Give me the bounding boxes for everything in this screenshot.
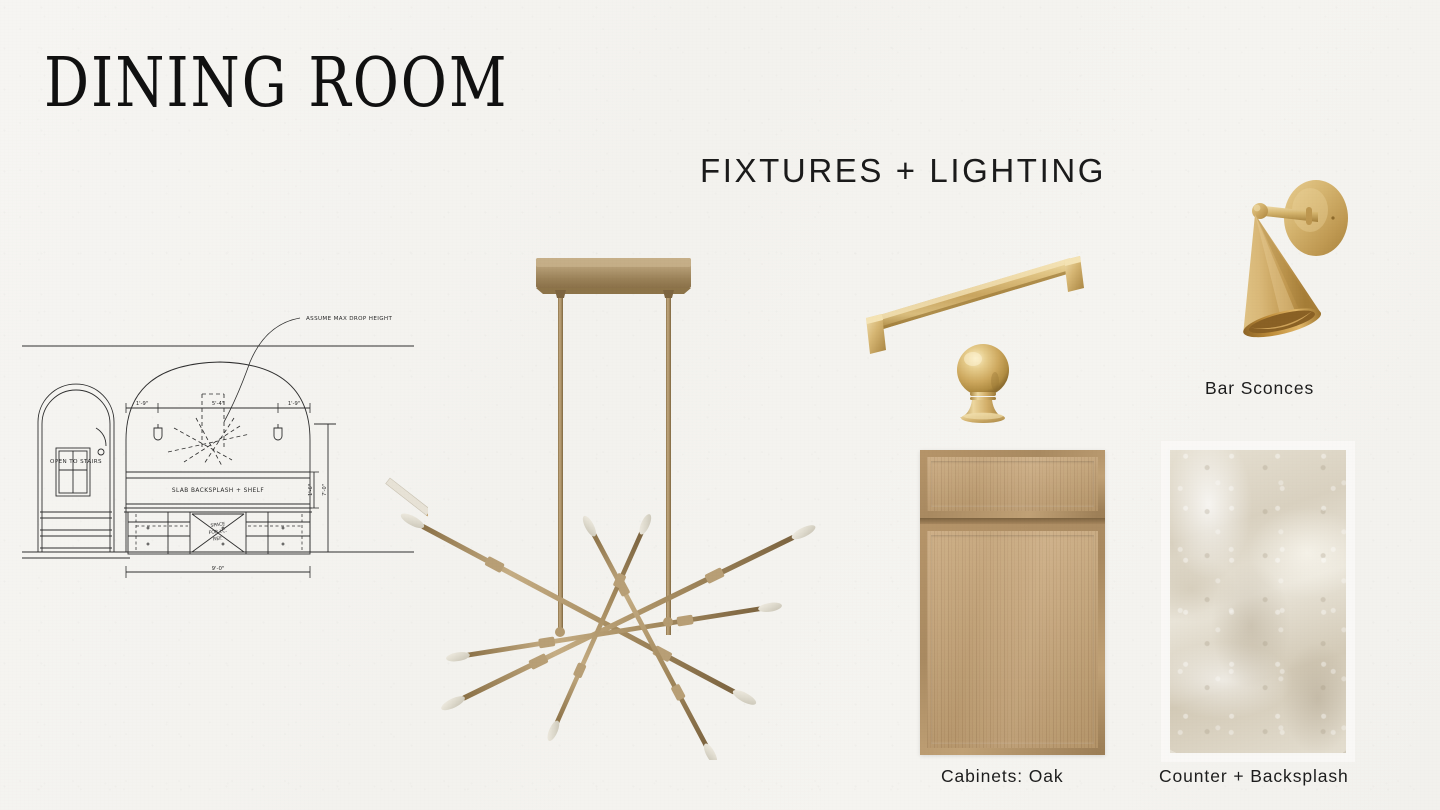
caption-counter: Counter + Backsplash — [1159, 766, 1349, 787]
dimension-overall-width: 9'-0" — [212, 566, 225, 572]
chandelier-joint-right — [663, 617, 673, 627]
page-title: DINING ROOM — [44, 48, 508, 116]
cabinet-door-panel — [931, 535, 1094, 744]
dimension-left-offset: 1'-9" — [136, 401, 148, 407]
cabinet-door-front — [920, 524, 1105, 755]
annotation-appliance-2: FOR I.C. — [208, 528, 227, 536]
caption-bar-sconces: Bar Sconces — [1205, 378, 1314, 399]
dimension-overall-height: 7'-0" — [322, 484, 328, 496]
annotation-open-to-stairs: OPEN TO STAIRS — [50, 459, 102, 465]
chandelier-joint-left — [555, 627, 565, 637]
mood-board: DINING ROOM FIXTURES + LIGHTING — [0, 0, 1440, 810]
elevation-drawing: ASSUME MAX DROP HEIGHT OPEN TO STAIRS SL… — [18, 300, 428, 590]
cabinet-hardware — [858, 248, 1108, 438]
stone-slab-sample — [1170, 450, 1346, 753]
cabinet-drawer-panel — [931, 461, 1094, 507]
dimension-right-offset: 1'-9" — [288, 401, 300, 407]
caption-cabinets: Cabinets: Oak — [941, 766, 1064, 787]
cone-sconce — [1168, 158, 1368, 363]
ball-knob-icon — [957, 344, 1009, 423]
dimension-center: 5'-4" — [212, 401, 224, 407]
chandelier-arms — [399, 510, 818, 760]
chandelier-canopy — [536, 258, 691, 294]
bar-pull-icon — [866, 256, 1084, 354]
section-title: FIXTURES + LIGHTING — [700, 152, 1106, 190]
cabinet-door-sample — [920, 450, 1105, 755]
dimension-counter-to-shelf: 1'-6" — [308, 484, 314, 496]
annotation-appliance-1: SPACE — [210, 521, 225, 529]
cabinet-drawer-front — [920, 450, 1105, 518]
chandelier-drop-rod-right — [666, 290, 671, 635]
annotation-appliance-3: REF. — [213, 535, 223, 542]
linear-chandelier — [378, 240, 868, 760]
chandelier-drop-rod-left — [558, 290, 563, 635]
annotation-backsplash: SLAB BACKSPLASH + SHELF — [172, 488, 264, 494]
